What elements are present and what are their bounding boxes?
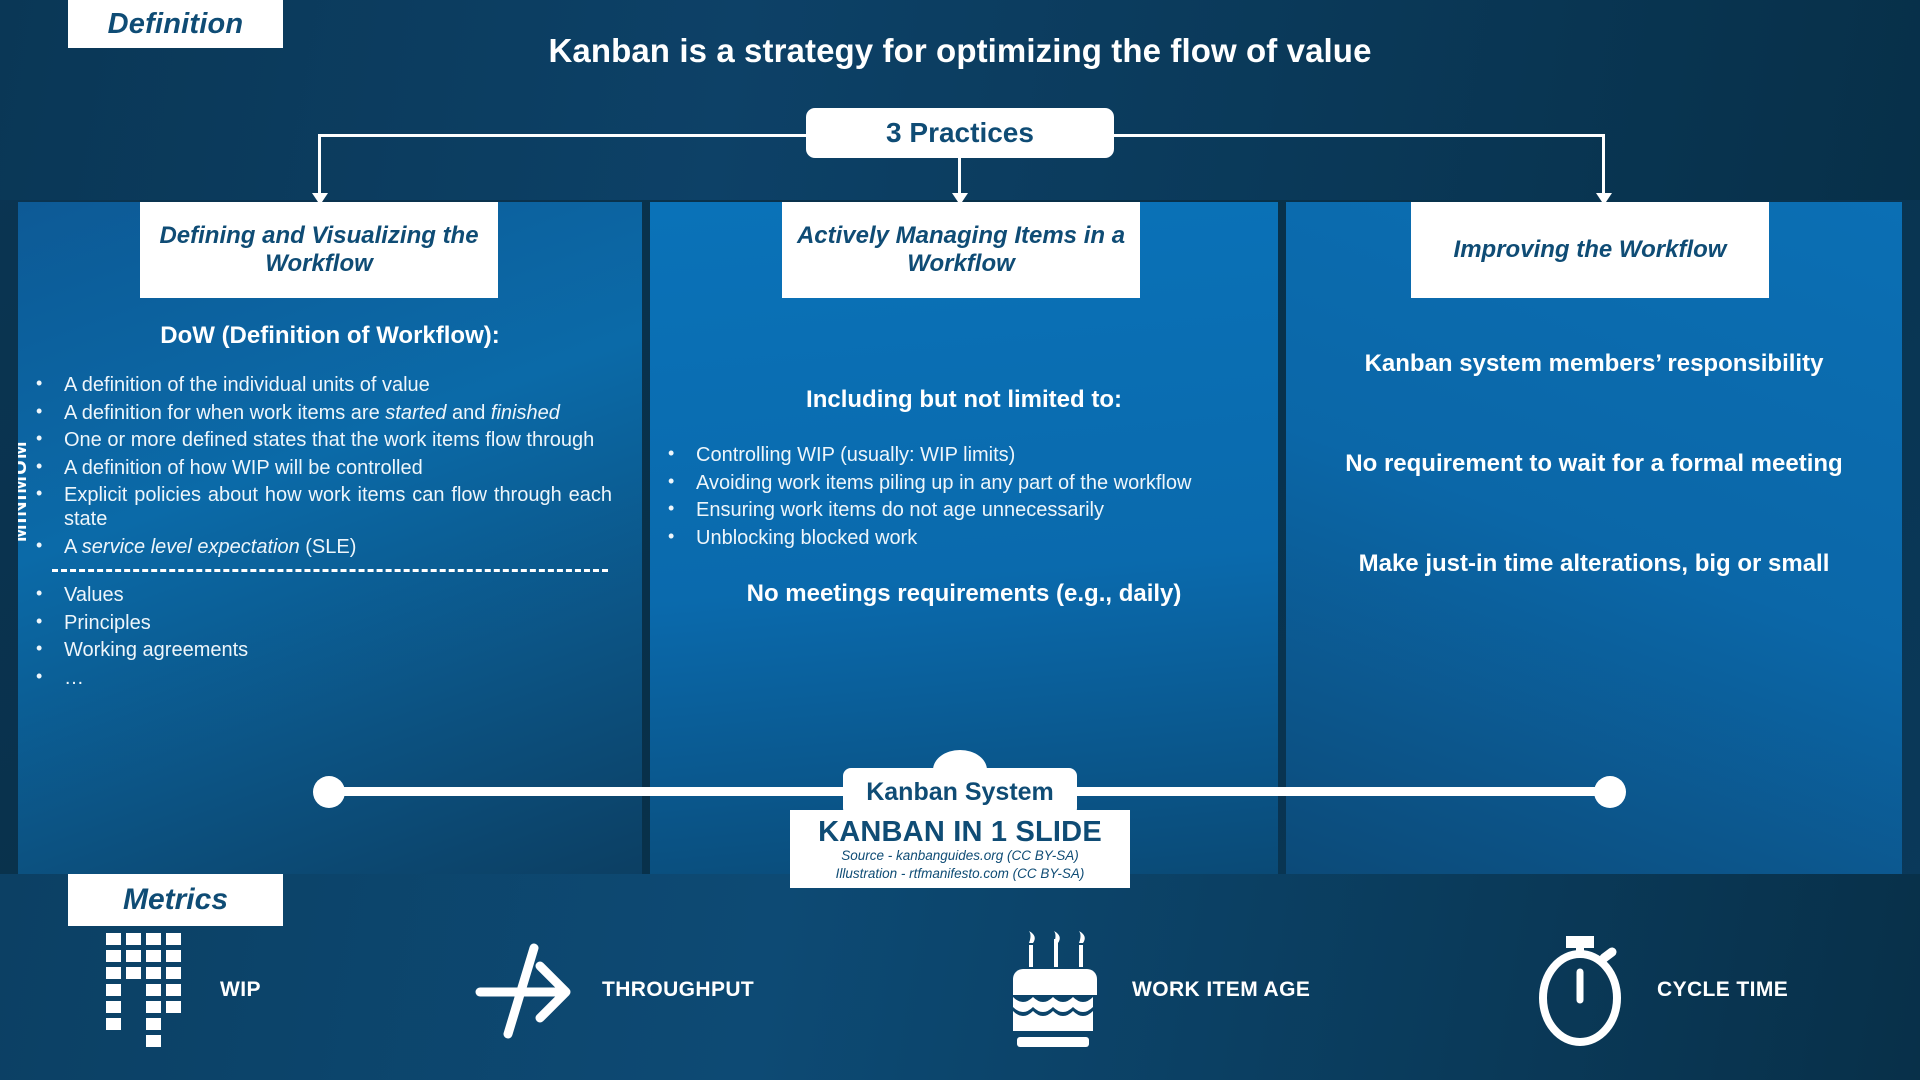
wip-grid-cell — [146, 933, 161, 945]
wip-grid-cell — [166, 950, 181, 962]
kanban-board-grid-icon — [88, 930, 198, 1050]
list-item: Unblocking blocked work — [650, 527, 1250, 551]
column-1-body: DoW (Definition of Workflow): A definiti… — [18, 298, 642, 695]
column-2-heading: Actively Managing Items in a Workflow — [782, 202, 1140, 298]
metric-throughput: THROUGHPUT — [470, 920, 754, 1060]
practices-connector-right — [1602, 134, 1605, 196]
list-item: A definition of how WIP will be controll… — [18, 457, 612, 481]
wip-grid-cell — [166, 933, 181, 945]
metric-wip-label: WIP — [220, 978, 261, 1002]
list-item: Values — [18, 584, 612, 608]
wip-grid-cell — [126, 1018, 141, 1030]
birthday-cake-icon — [1000, 930, 1110, 1050]
minimum-side-label: MINIMUM — [18, 441, 32, 542]
improving-statements: Kanban system members’ responsibilityNo … — [1286, 350, 1902, 650]
page-title: Kanban is a strategy for optimizing the … — [0, 32, 1920, 70]
title-source-plaque: KANBAN IN 1 SLIDE Source - kanbanguides.… — [790, 810, 1130, 888]
source-credit: Source - kanbanguides.org (CC BY-SA) — [841, 847, 1079, 865]
list-item: Controlling WIP (usually: WIP limits) — [650, 444, 1250, 468]
optional-practices-list: ValuesPrinciplesWorking agreements… — [18, 584, 642, 690]
kanban-system-chip: Kanban System — [843, 768, 1077, 816]
list-item: Avoiding work items piling up in any par… — [650, 472, 1250, 496]
wip-grid-cell — [106, 984, 121, 996]
wip-grid-cell — [166, 967, 181, 979]
wip-grid-cell — [126, 967, 141, 979]
arrow-down-icon-right — [1596, 193, 1612, 205]
list-item: A definition of the individual units of … — [18, 374, 612, 398]
dashed-divider — [52, 569, 608, 572]
metrics-section-tab: Metrics — [68, 874, 283, 926]
improving-statement: Kanban system members’ responsibility — [1338, 350, 1850, 378]
metric-throughput-label: THROUGHPUT — [602, 978, 754, 1002]
wip-grid-cell — [146, 1018, 161, 1030]
dow-bullet-list: A definition of the individual units of … — [18, 374, 642, 559]
practices-connector-left — [318, 134, 321, 196]
arrow-down-icon-middle — [952, 193, 968, 205]
managing-bullet-list: Controlling WIP (usually: WIP limits)Avo… — [650, 444, 1278, 550]
list-item: One or more defined states that the work… — [18, 429, 612, 453]
wip-grid-cell — [106, 933, 121, 945]
wip-grid-cell — [106, 967, 121, 979]
wip-grid-cell — [146, 1035, 161, 1047]
wip-grid-cell — [146, 950, 161, 962]
arrow-down-icon-left — [312, 193, 328, 205]
column-defining-and-visualizing: MINIMUM Defining and Visualizing the Wor… — [18, 202, 642, 874]
list-item: A definition for when work items are sta… — [18, 402, 612, 426]
dow-subheading: DoW (Definition of Workflow): — [18, 322, 642, 350]
improving-statement: No requirement to wait for a formal meet… — [1338, 450, 1850, 478]
wip-grid-cell — [166, 1001, 181, 1013]
list-item: A service level expectation (SLE) — [18, 536, 612, 560]
metric-work-item-age-label: WORK ITEM AGE — [1132, 978, 1310, 1002]
wip-grid-cell — [126, 1001, 141, 1013]
list-item: Principles — [18, 612, 612, 636]
wip-grid-cell — [106, 1035, 121, 1047]
wip-grid-cell — [126, 933, 141, 945]
column-1-heading: Defining and Visualizing the Workflow — [140, 202, 498, 298]
list-item: … — [18, 667, 612, 691]
wip-grid-cell — [106, 950, 121, 962]
metric-cycle-time-label: CYCLE TIME — [1657, 978, 1788, 1002]
column-2-body: Including but not limited to: Controllin… — [650, 298, 1278, 608]
slide-title: KANBAN IN 1 SLIDE — [818, 818, 1102, 847]
wip-grid-cell — [146, 1001, 161, 1013]
wip-grid-cell — [126, 1035, 141, 1047]
kanban-in-1-slide: Definition Kanban is a strategy for opti… — [0, 0, 1920, 1080]
improving-statement: Make just-in time alterations, big or sm… — [1338, 550, 1850, 578]
list-item: Working agreements — [18, 639, 612, 663]
practices-connector-middle — [958, 155, 961, 196]
illustration-credit: Illustration - rtfmanifesto.com (CC BY-S… — [836, 865, 1085, 883]
column-3-heading: Improving the Workflow — [1411, 202, 1769, 298]
metric-cycle-time: CYCLE TIME — [1525, 920, 1788, 1060]
no-meetings-note: No meetings requirements (e.g., daily) — [650, 580, 1278, 608]
including-subheading: Including but not limited to: — [650, 386, 1278, 414]
wip-grid-cell — [106, 1001, 121, 1013]
wip-grid-cell — [146, 967, 161, 979]
wip-grid-cell — [166, 1018, 181, 1030]
three-practices-chip: 3 Practices — [806, 108, 1114, 158]
list-item: Explicit policies about how work items c… — [18, 484, 612, 531]
wip-grid-cell — [126, 984, 141, 996]
metric-wip: WIP — [88, 920, 261, 1060]
metric-work-item-age: WORK ITEM AGE — [1000, 920, 1310, 1060]
stopwatch-icon — [1525, 930, 1635, 1050]
wip-grid-cell — [106, 1018, 121, 1030]
wip-grid-cell — [146, 984, 161, 996]
wip-grid-cell — [166, 1035, 181, 1047]
list-item: Ensuring work items do not age unnecessa… — [650, 499, 1250, 523]
crossed-arrow-icon — [470, 930, 580, 1050]
column-improving-the-workflow: Improving the Workflow Kanban system mem… — [1286, 202, 1902, 874]
wip-grid-cell — [126, 950, 141, 962]
wip-grid-cell — [166, 984, 181, 996]
